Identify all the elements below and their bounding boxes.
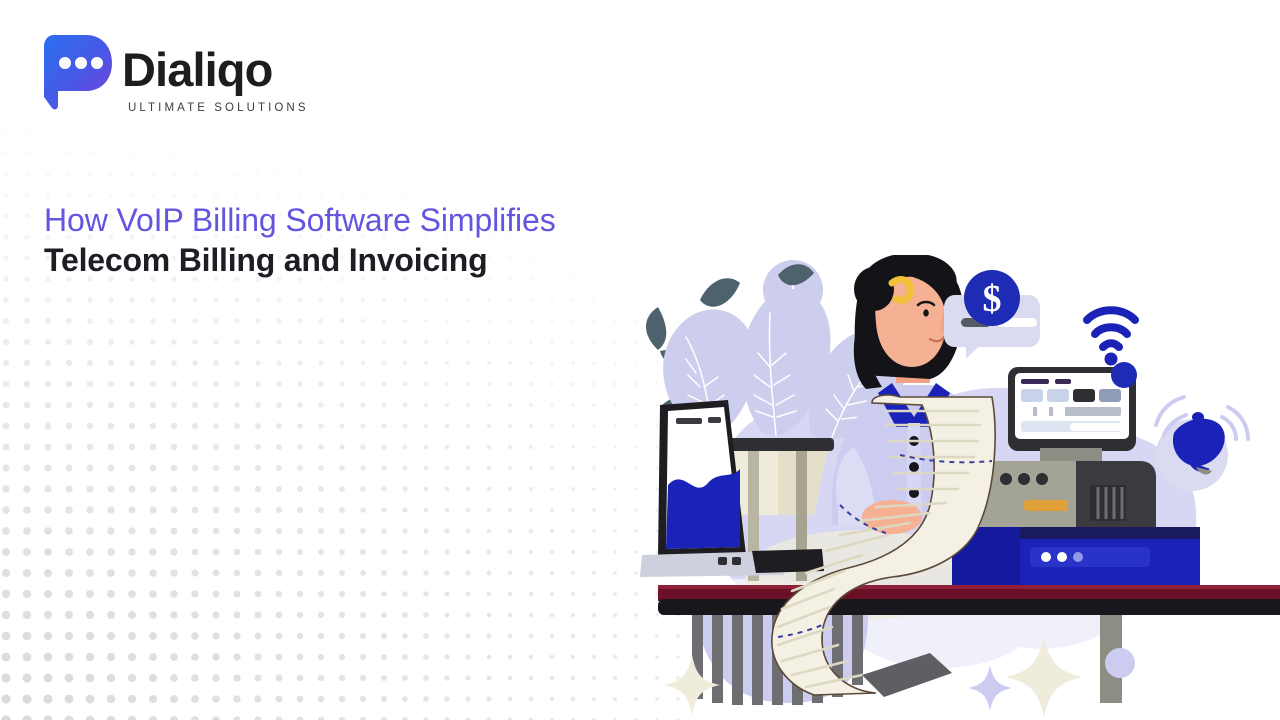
hero-illustration: $ [600, 255, 1280, 720]
logo-wordmark: Dialiqo [122, 46, 309, 93]
brand-logo[interactable]: Dialiqo ULTIMATE SOLUTIONS [42, 33, 309, 114]
speech-bubble-icon [42, 33, 114, 113]
headline-line-1: How VoIP Billing Software Simplifies [44, 199, 704, 241]
logo-tagline: ULTIMATE SOLUTIONS [128, 102, 309, 114]
dollar-badge-icon: $ [964, 270, 1020, 326]
logo-wordmark-group: Dialiqo ULTIMATE SOLUTIONS [122, 46, 309, 114]
svg-text:$: $ [983, 278, 1002, 320]
wifi-icon [1087, 310, 1135, 365]
notification-bell-icon [1156, 397, 1248, 491]
poster-canvas: Dialiqo ULTIMATE SOLUTIONS How VoIP Bill… [0, 0, 1280, 720]
